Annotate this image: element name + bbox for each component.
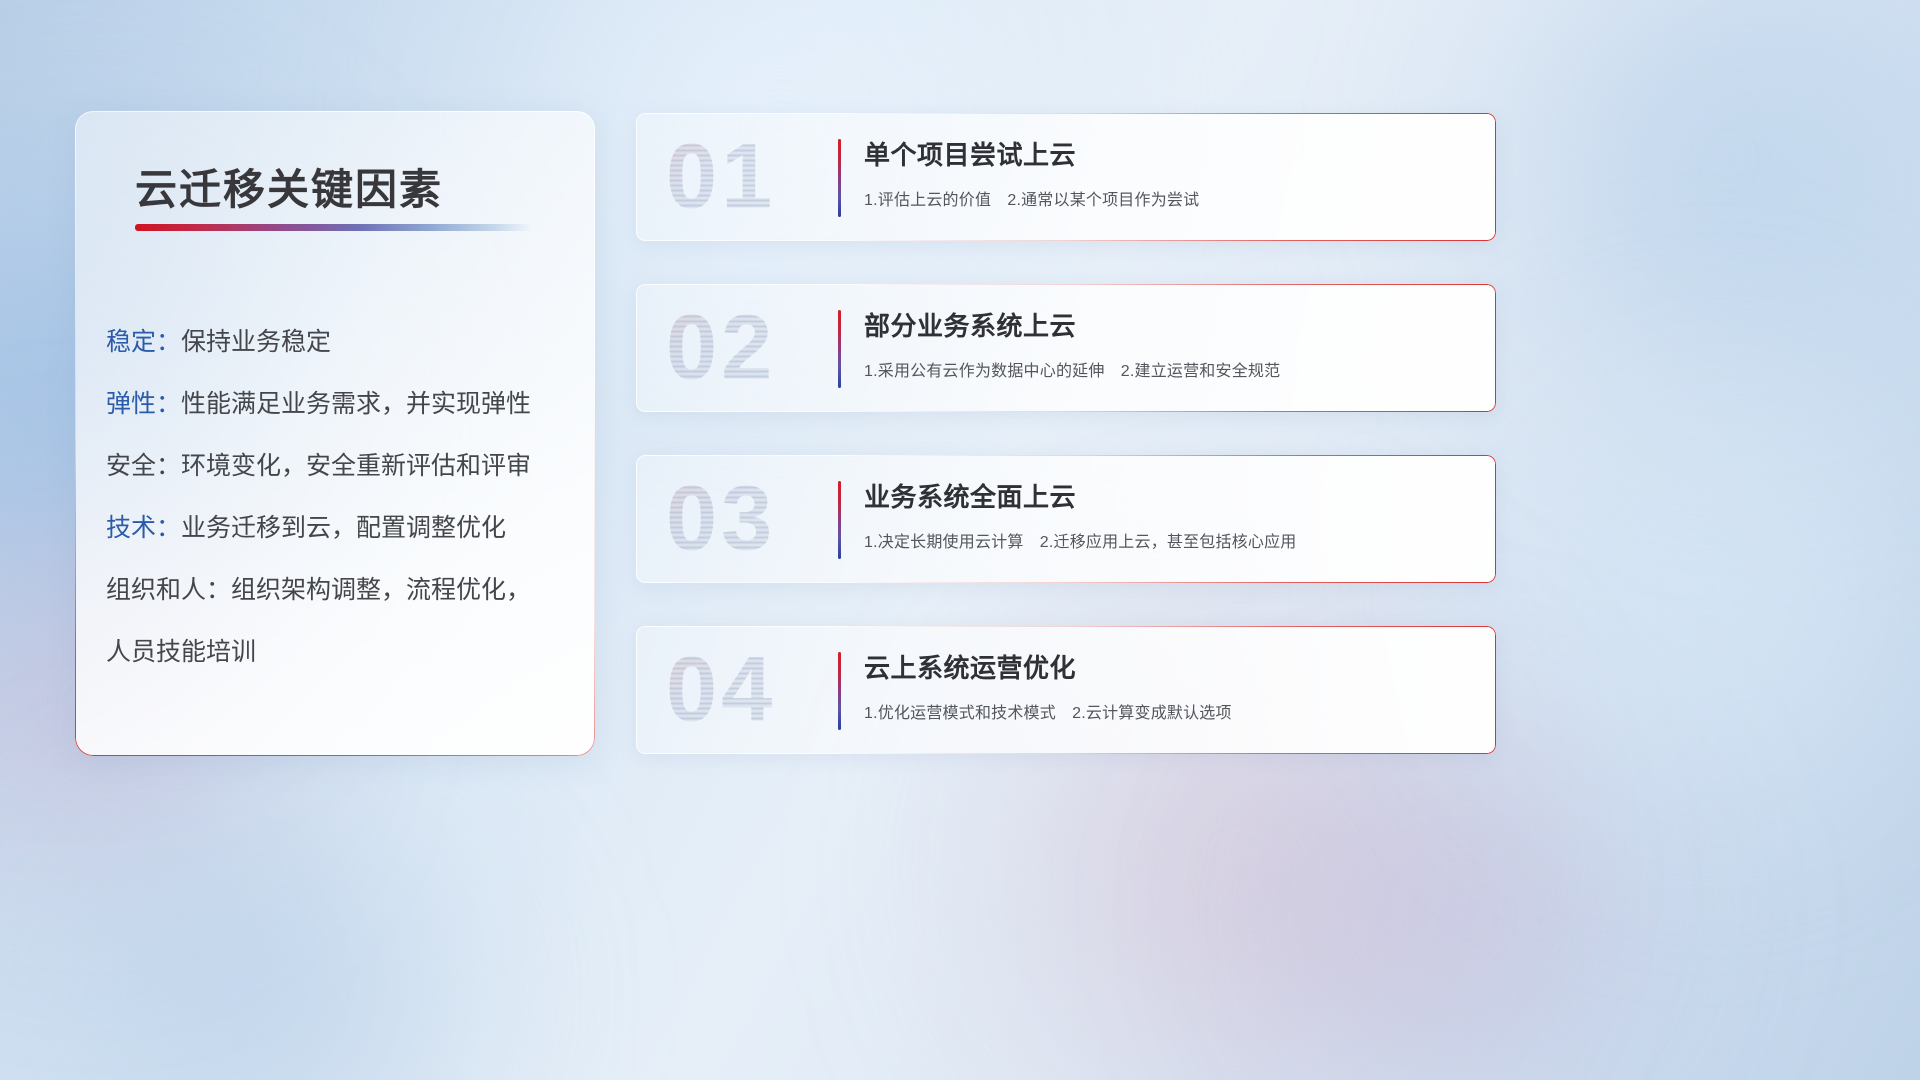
factor-item-stability: 稳定：保持业务稳定 bbox=[106, 311, 573, 373]
factor-text: 环境变化，安全重新评估和评审 bbox=[181, 452, 531, 480]
factor-item-technology: 技术：业务迁移到云，配置调整优化 bbox=[106, 497, 573, 559]
card-title: 云上系统运营优化 bbox=[864, 648, 1478, 685]
factor-label: 稳定： bbox=[106, 328, 181, 356]
stage-number-04: 04 bbox=[666, 638, 776, 743]
factor-label: 弹性： bbox=[106, 390, 181, 418]
factor-item-security: 安全：环境变化，安全重新评估和评审 bbox=[106, 435, 573, 497]
stage-card-01[interactable]: 01 单个项目尝试上云 1.评估上云的价值 2.通常以某个项目作为尝试 bbox=[636, 113, 1496, 241]
stage-number-01: 01 bbox=[666, 125, 776, 230]
card-accent-bar bbox=[838, 652, 841, 730]
card-body: 云上系统运营优化 1.优化运营模式和技术模式 2.云计算变成默认选项 bbox=[864, 648, 1478, 723]
stage-number-02: 02 bbox=[666, 296, 776, 401]
factor-text: 保持业务稳定 bbox=[181, 328, 331, 356]
card-body: 业务系统全面上云 1.决定长期使用云计算 2.迁移应用上云，甚至包括核心应用 bbox=[864, 477, 1478, 552]
card-body: 部分业务系统上云 1.采用公有云作为数据中心的延伸 2.建立运营和安全规范 bbox=[864, 306, 1478, 381]
card-title: 部分业务系统上云 bbox=[864, 306, 1478, 343]
factor-text: 组织架构调整，流程优化， bbox=[231, 576, 531, 604]
stage-card-03[interactable]: 03 业务系统全面上云 1.决定长期使用云计算 2.迁移应用上云，甚至包括核心应… bbox=[636, 455, 1496, 583]
slide-stage: 云迁移关键因素 稳定：保持业务稳定 弹性：性能满足业务需求，并实现弹性 安全：环… bbox=[0, 0, 1920, 1080]
card-description: 1.采用公有云作为数据中心的延伸 2.建立运营和安全规范 bbox=[864, 357, 1478, 381]
factor-list: 稳定：保持业务稳定 弹性：性能满足业务需求，并实现弹性 安全：环境变化，安全重新… bbox=[106, 311, 573, 683]
stage-cards-list: 01 单个项目尝试上云 1.评估上云的价值 2.通常以某个项目作为尝试 02 部… bbox=[636, 113, 1496, 797]
factor-item-organization-cont: 人员技能培训 bbox=[106, 621, 573, 683]
card-title: 单个项目尝试上云 bbox=[864, 135, 1478, 172]
factor-label: 技术： bbox=[106, 514, 181, 542]
key-factors-panel: 云迁移关键因素 稳定：保持业务稳定 弹性：性能满足业务需求，并实现弹性 安全：环… bbox=[75, 111, 595, 756]
card-accent-bar bbox=[838, 481, 841, 559]
stage-card-04[interactable]: 04 云上系统运营优化 1.优化运营模式和技术模式 2.云计算变成默认选项 bbox=[636, 626, 1496, 754]
factor-text: 业务迁移到云，配置调整优化 bbox=[181, 514, 506, 542]
card-accent-bar bbox=[838, 310, 841, 388]
factor-label: 安全： bbox=[106, 452, 181, 480]
factor-label: 组织和人： bbox=[106, 576, 231, 604]
factor-item-organization: 组织和人：组织架构调整，流程优化， bbox=[106, 559, 573, 621]
factor-text: 性能满足业务需求，并实现弹性 bbox=[181, 390, 531, 418]
card-accent-bar bbox=[838, 139, 841, 217]
card-body: 单个项目尝试上云 1.评估上云的价值 2.通常以某个项目作为尝试 bbox=[864, 135, 1478, 210]
title-underline-gradient bbox=[135, 224, 533, 231]
stage-card-02[interactable]: 02 部分业务系统上云 1.采用公有云作为数据中心的延伸 2.建立运营和安全规范 bbox=[636, 284, 1496, 412]
factor-text: 人员技能培训 bbox=[106, 638, 256, 666]
card-title: 业务系统全面上云 bbox=[864, 477, 1478, 514]
card-description: 1.优化运营模式和技术模式 2.云计算变成默认选项 bbox=[864, 699, 1478, 723]
card-description: 1.评估上云的价值 2.通常以某个项目作为尝试 bbox=[864, 186, 1478, 210]
card-description: 1.决定长期使用云计算 2.迁移应用上云，甚至包括核心应用 bbox=[864, 528, 1478, 552]
factor-item-elasticity: 弹性：性能满足业务需求，并实现弹性 bbox=[106, 373, 573, 435]
page-title: 云迁移关键因素 bbox=[135, 156, 443, 217]
stage-number-03: 03 bbox=[666, 467, 776, 572]
